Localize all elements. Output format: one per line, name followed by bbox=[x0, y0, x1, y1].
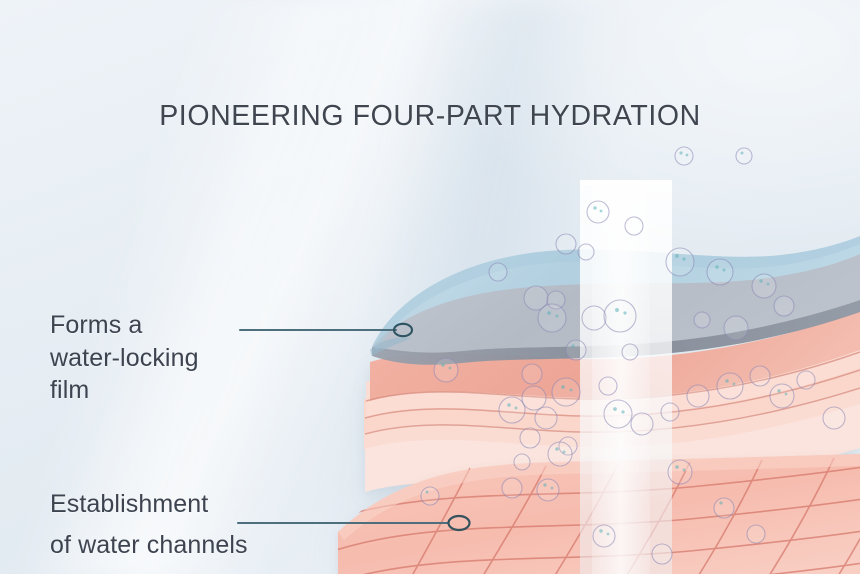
callout-label-water-channels-line1: Establishment bbox=[50, 484, 350, 525]
callout-label-forms-film: Forms a water-locking film bbox=[50, 309, 300, 407]
callout-label-forms-film-line1: Forms a bbox=[50, 309, 300, 342]
water-stream-column bbox=[580, 180, 672, 574]
page-title: PIONEERING FOUR-PART HYDRATION bbox=[0, 100, 860, 133]
callout-label-forms-film-line2: water-locking bbox=[50, 342, 300, 375]
callout-label-water-channels-line2: of water channels bbox=[50, 525, 350, 566]
illustration-canvas: PIONEERING FOUR-PART HYDRATION Forms a w… bbox=[0, 0, 860, 574]
callout-label-water-channels: Establishment of water channels bbox=[50, 484, 350, 567]
callout-label-forms-film-line3: film bbox=[50, 374, 300, 407]
